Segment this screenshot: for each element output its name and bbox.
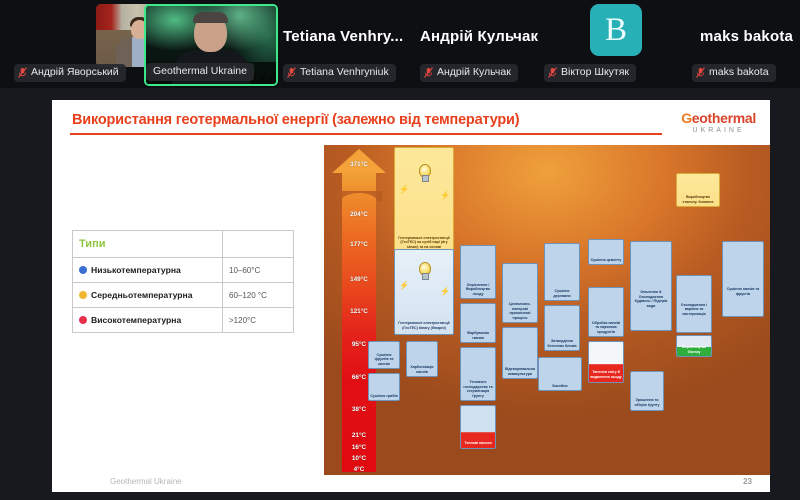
card-label: Сушіння деревини — [546, 289, 578, 298]
table-row-header: Типи — [73, 231, 294, 258]
card-label: Басейни — [540, 384, 580, 388]
participant-name-text-5: maks bakota — [709, 66, 769, 78]
type-text-low: Низькотемпературна — [91, 265, 181, 275]
type-range-mid: 60–120 °C — [223, 283, 294, 308]
card-biogas: Виробництво біогазу — [676, 335, 712, 357]
participant-name-badge-3: Андрій Кульчак — [420, 64, 518, 82]
type-range-high: >120°C — [223, 308, 294, 333]
axis-tick-121: 121°C — [342, 308, 376, 315]
axis-tick-16: 16°C — [342, 444, 376, 451]
title-underline — [70, 133, 662, 135]
card-building-heating: Опалення & Охолодження будівель / Підігр… — [630, 241, 672, 331]
axis-tick-21: 21°C — [342, 432, 376, 439]
card-label: Затвердіння бетонних блоків — [546, 339, 578, 348]
card-label: Сушіння грибів — [370, 394, 398, 398]
bullet-dot-low — [79, 266, 87, 274]
temperature-scale-thermometer: 371°C 204°C 177°C 149°C 121°C 95°C 66°C … — [332, 149, 386, 473]
card-mushroom-drying: Сушіння грибів — [368, 373, 400, 401]
lightning-bolt-icon: ⚡ — [440, 192, 450, 200]
table-row: Високотемпературна >120°C — [73, 308, 294, 333]
participant-name-badge-5: maks bakota — [692, 64, 776, 82]
slide-footer-text: Geothermal Ukraine — [110, 477, 182, 486]
card-label: Фарбування тканин — [462, 331, 494, 340]
card-label: Карбонізація напоїв — [408, 365, 436, 374]
bulb-base — [422, 175, 429, 182]
participant-name-text-0: Андрій Яворський — [31, 66, 119, 78]
table-row: Середньотемпературна 60–120 °C — [73, 283, 294, 308]
table-row: Низькотемпературна 10–60°C — [73, 258, 294, 283]
logo-subtitle: UKRAINE — [681, 127, 756, 134]
card-dyeing: Фарбування тканин — [460, 303, 496, 343]
axis-tick-204: 204°C — [342, 211, 376, 218]
participant-name-badge-1: Geothermal Ukraine — [146, 63, 254, 81]
person-hair — [193, 12, 228, 23]
card-fruit-drying: Сушіння фруктів та овочів — [368, 341, 400, 369]
card-label: Виробництво біогазу — [678, 345, 710, 354]
participant-display-name-2: Tetiana Venhry... — [283, 28, 403, 45]
card-wood-drying: Сушіння деревини — [544, 243, 580, 301]
card-label: Опалення & Охолодження будівель / Підігр… — [632, 290, 670, 308]
microphone-muted-icon — [548, 67, 557, 78]
avatar[interactable]: В — [590, 4, 642, 56]
card-heat-pumps: Теплові насоси — [460, 405, 496, 449]
bullet-dot-mid — [79, 291, 87, 299]
participant-display-name-3: Андрій Кульчак — [420, 28, 538, 45]
microphone-muted-icon — [287, 67, 296, 78]
card-desalination: Опріснення / Виробництво льоду — [460, 245, 496, 299]
video-conference-strip: Андрій Яворський Geothermal Ukraine Teti… — [0, 0, 800, 88]
page-title: Використання геотермальної енергії (зале… — [72, 112, 519, 128]
participant-name-text-4: Віктор Шкутяк — [561, 66, 629, 78]
participant-tile-5[interactable]: maks bakota maks bakota — [700, 4, 800, 84]
participant-name-text-3: Андрій Кульчак — [437, 66, 511, 78]
card-veg-drying: Сушіння овочів та фруктів — [722, 241, 764, 317]
geothermal-ukraine-logo: Geothermal UKRAINE — [681, 110, 756, 134]
bulb-base — [422, 273, 429, 280]
card-food-processing: Обробка напоїв та харчових продуктів — [588, 287, 624, 337]
participant-tile-3[interactable]: Андрій Кульчак Андрій Кульчак — [420, 4, 540, 84]
microphone-muted-icon — [696, 67, 705, 78]
lightning-bolt-icon: ⚡ — [440, 288, 450, 296]
microphone-muted-icon — [18, 67, 27, 78]
card-carbonation: Карбонізація напоїв — [406, 341, 438, 377]
card-concrete-curing: Затвердіння бетонних блоків — [544, 305, 580, 351]
lightbulb-icon — [417, 164, 431, 182]
card-pulp-paper: Целюлозно-паперові промислові процеси — [502, 263, 538, 323]
type-label-high: Високотемпературна — [73, 308, 223, 333]
participant-tile-1[interactable]: Geothermal Ukraine — [144, 4, 278, 84]
type-range-low: 10–60°C — [223, 258, 294, 283]
card-label: Теплові насоси — [462, 441, 494, 445]
card-label: Целюлозно-паперові промислові процеси — [504, 302, 536, 320]
card-label: Обробка напоїв та харчових продуктів — [590, 321, 622, 334]
participant-name-badge-4: Віктор Шкутяк — [544, 64, 636, 82]
slide-page-number: 23 — [743, 477, 752, 486]
card-soil-heating: Зрошення та обігрів ґрунту — [630, 371, 664, 411]
thermometer-break-mark — [336, 191, 382, 201]
microphone-muted-icon — [424, 67, 433, 78]
axis-tick-10: 10°C — [342, 455, 376, 462]
participant-name-badge-2: Tetiana Venhryniuk — [283, 64, 396, 82]
card-label: Сушіння фруктів та овочів — [370, 353, 398, 366]
participant-name-text-2: Tetiana Venhryniuk — [300, 66, 389, 78]
axis-tick-371: 371°C — [342, 161, 376, 168]
logo-word: eothermal — [692, 110, 756, 126]
card-label: Відтворювальна аквакультура — [504, 367, 536, 376]
logo-flame-icon: G — [681, 110, 692, 126]
card-label: Охолодження і варіння та пастеризація — [678, 303, 710, 316]
card-label: Опріснення / Виробництво льоду — [462, 283, 494, 296]
bullet-dot-high — [79, 316, 87, 324]
geothermal-temperature-infographic: 371°C 204°C 177°C 149°C 121°C 95°C 66°C … — [324, 145, 770, 475]
participant-name-badge-0: Андрій Яворський — [14, 64, 126, 82]
card-cement-drying: Сушіння цементу — [588, 239, 624, 265]
card-label: Танення снігу й видалення льоду — [590, 370, 622, 379]
card-label: Зрошення та обігрів ґрунту — [632, 398, 662, 407]
table-header-empty — [223, 231, 294, 258]
card-aquaculture: Відтворювальна аквакультура — [502, 327, 538, 379]
type-label-low: Низькотемпературна — [73, 258, 223, 283]
card-label: Сушіння цементу — [590, 258, 622, 262]
card-label: Сушіння овочів та фруктів — [724, 287, 762, 296]
type-text-high: Високотемпературна — [91, 315, 181, 325]
table-header-types: Типи — [73, 231, 223, 258]
card-label: Виробництво етанолу. Копання — [678, 195, 718, 204]
participant-display-name-5: maks bakota — [700, 28, 793, 45]
participant-tile-4[interactable]: В Віктор Шкутяк — [590, 4, 700, 84]
card-pools: Басейни — [538, 357, 582, 391]
type-text-mid: Середньотемпературна — [91, 290, 193, 300]
lightbulb-icon — [417, 262, 431, 280]
axis-tick-177: 177°C — [342, 241, 376, 248]
card-cooking: Охолодження і варіння та пастеризація — [676, 275, 712, 333]
lightning-bolt-icon: ⚡ — [399, 186, 409, 194]
card-greenhouse: Тепличне господарство та стерилізація ґр… — [460, 347, 496, 401]
participant-name-text-1: Geothermal Ukraine — [153, 65, 247, 77]
axis-tick-38: 38°C — [342, 406, 376, 413]
logo-wordmark: Geothermal — [681, 110, 756, 126]
card-snow-melting: Танення снігу й видалення льоду — [588, 341, 624, 383]
lightning-bolt-icon: ⚡ — [399, 282, 409, 290]
shared-slide[interactable]: Використання геотермальної енергії (зале… — [52, 100, 770, 492]
card-label: Тепличне господарство та стерилізація ґр… — [462, 380, 494, 398]
card-ethanol: Виробництво етанолу. Копання — [676, 173, 720, 207]
axis-tick-4: 4°C — [342, 466, 376, 473]
temperature-types-table: Типи Низькотемпературна 10–60°C Середньо… — [72, 230, 294, 333]
card-geotec-binary: ⚡ ⚡ Геотермальні електростанції (ГеоТЕС)… — [394, 249, 454, 335]
card-geotec-flash: ⚡ ⚡ Геотермальні електростанції (ГеоТЕС)… — [394, 147, 454, 263]
axis-tick-149: 149°C — [342, 276, 376, 283]
type-label-mid: Середньотемпературна — [73, 283, 223, 308]
participant-tile-2[interactable]: Tetiana Venhry... Tetiana Venhryniuk — [283, 4, 413, 84]
card-label: Геотермальні електростанції (ГеоТЕС) bin… — [396, 321, 452, 330]
